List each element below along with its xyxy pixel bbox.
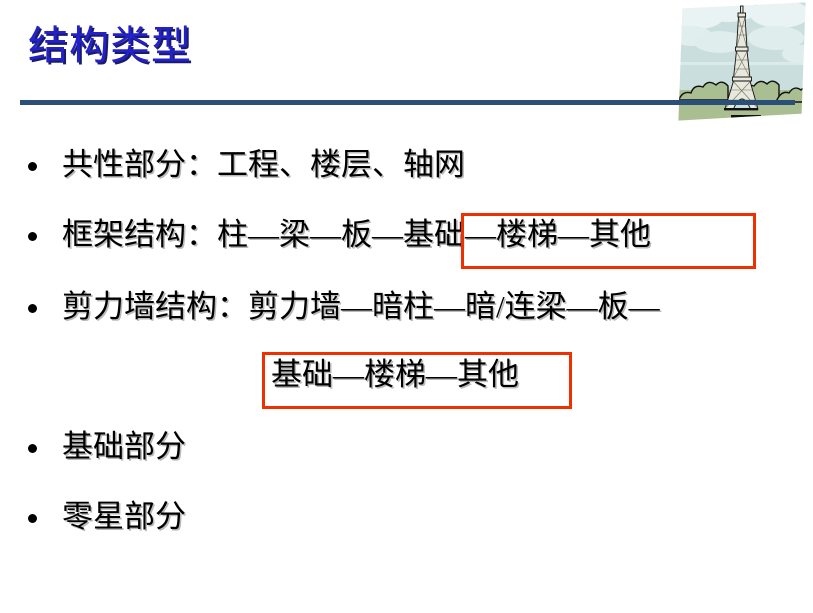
list-item-label: 共性部分：工程、楼层、轴网 <box>62 148 465 182</box>
bullet-dot-icon <box>28 304 37 313</box>
list-item-continuation-label: 基础—楼梯—其他 <box>271 358 519 392</box>
list-item-label: 零星部分 <box>62 500 186 534</box>
bullet-dot-icon <box>28 162 37 171</box>
title-divider-rule <box>20 100 795 105</box>
list-item-label: 剪力墙结构：剪力墙—暗柱—暗/连梁—板— <box>62 290 660 324</box>
list-item: 基础部分 <box>0 430 186 464</box>
list-item-label: 基础部分 <box>62 430 186 464</box>
list-item-label: 框架结构：柱—梁—板—基础—楼梯—其他 <box>62 218 651 252</box>
list-item: 共性部分：工程、楼层、轴网 <box>0 148 465 182</box>
bullet-dot-icon <box>28 444 37 453</box>
eiffel-tower-clipart <box>676 2 809 124</box>
page-title: 结构类型 <box>28 21 192 71</box>
slide-canvas: 结构类型 <box>0 0 813 613</box>
list-item: 框架结构：柱—梁—板—基础—楼梯—其他 <box>0 218 651 252</box>
list-item: 零星部分 <box>0 500 186 534</box>
bullet-dot-icon <box>28 232 37 241</box>
list-item: 剪力墙结构：剪力墙—暗柱—暗/连梁—板— <box>0 290 660 324</box>
bullet-dot-icon <box>28 514 37 523</box>
list-item-continuation: 基础—楼梯—其他 <box>271 358 519 392</box>
